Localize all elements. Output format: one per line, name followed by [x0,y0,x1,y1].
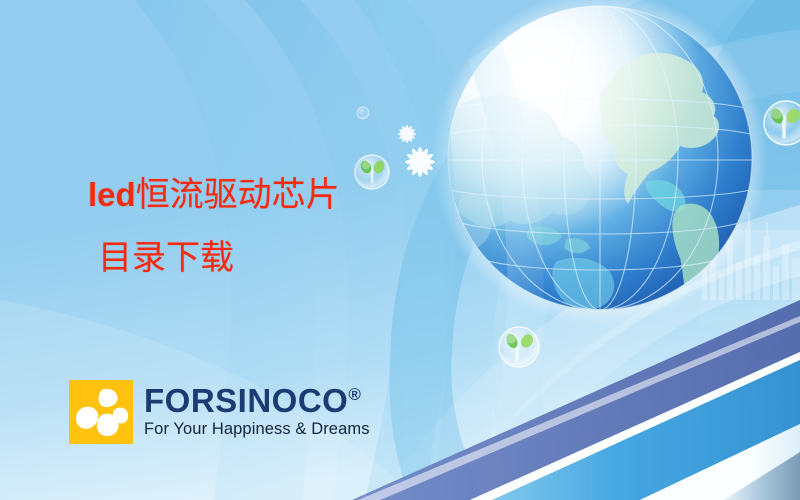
bubble-sprout-left [355,155,389,189]
headline-cjk: 恒流驱动芯片 [136,175,340,215]
logo-text-block: FORSINOCO® For Your Happiness & Dreams [144,380,370,439]
logo-wordmark: FORSINOCO® [144,384,370,418]
headline-text: led恒流驱动芯片 目录下载 [88,163,340,290]
headline-line-1: led恒流驱动芯片 [88,175,340,215]
logo-tagline: For Your Happiness & Dreams [144,419,370,439]
earth-globe [432,0,768,326]
forsinoco-pinwheel-mark [69,380,133,444]
promo-banner: led恒流驱动芯片 目录下载 FORSINOCO® For Your Happi… [0,0,800,500]
registered-trademark-icon: ® [348,385,361,404]
brand-logo[interactable]: FORSINOCO® For Your Happiness & Dreams [69,380,370,444]
logo-wordmark-text: FORSINOCO [144,382,348,419]
bubble-small-upper [357,107,369,119]
bubble-sprout-right [764,101,800,145]
headline-line-2: 目录下载 [88,227,340,290]
bubble-sprout-center [499,327,539,367]
headline-latin: led [88,176,136,213]
